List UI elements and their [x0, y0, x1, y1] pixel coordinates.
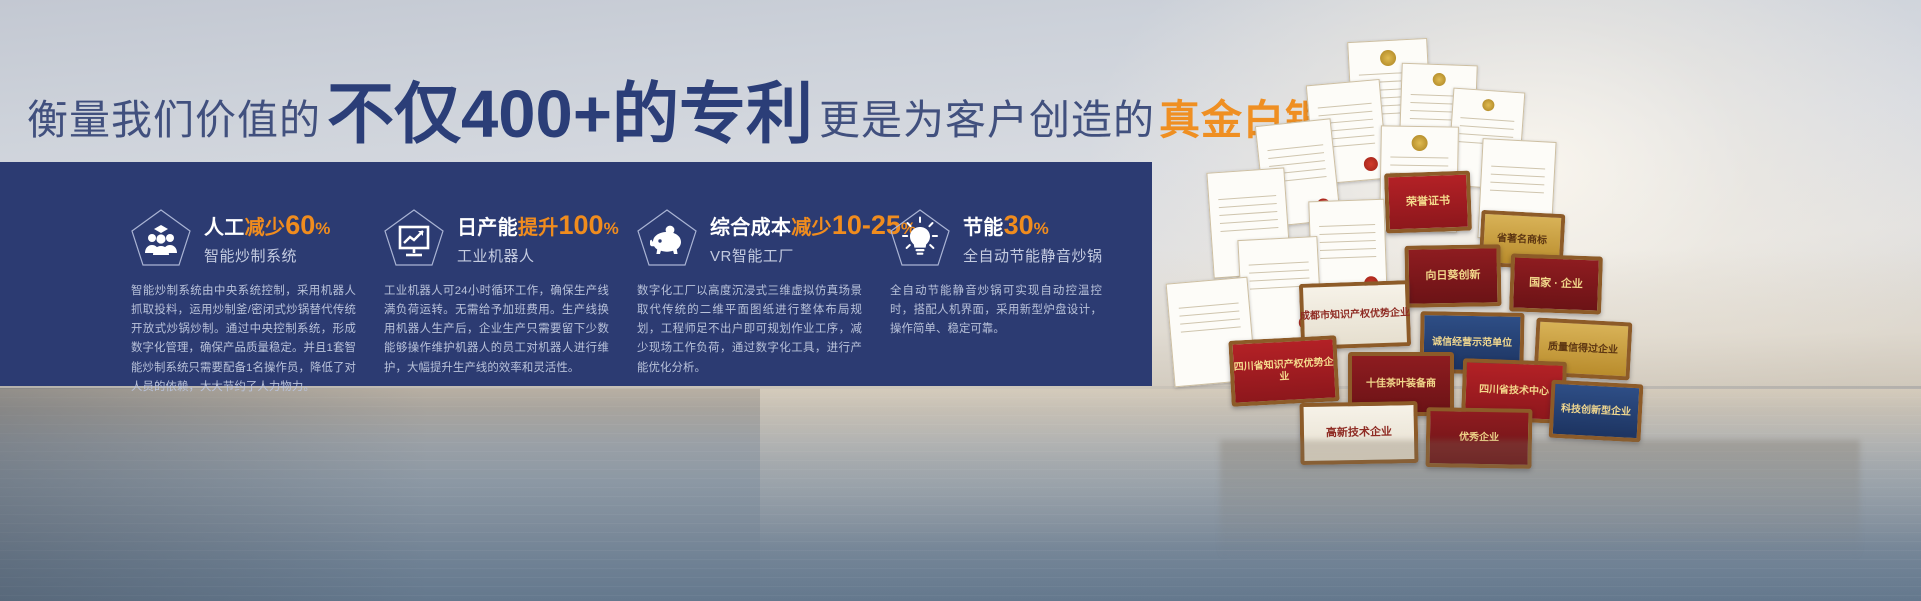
lightbulb-icon	[889, 208, 951, 268]
plaque-label: 向日葵创新	[1405, 269, 1501, 283]
plaque-label: 高新技术企业	[1300, 426, 1418, 441]
award-plaque: 四川省知识产权优势企业	[1228, 335, 1339, 407]
feature-title-unit: %	[604, 219, 619, 238]
feature-body-3: 数字化工厂以高度沉浸式三维虚拟仿真场景取代传统的二维平面图纸进行整体布局规划，工…	[637, 282, 862, 378]
feature-card-2[interactable]: 日产能提升100% 工业机器人 工业机器人可24小时循环工作，确保生产线满负荷运…	[383, 162, 641, 386]
chart-board-icon	[383, 208, 445, 268]
feature-subtitle-1: 智能炒制系统	[204, 245, 331, 266]
feature-title-number: 30	[1004, 210, 1034, 240]
people-group-icon	[130, 208, 192, 268]
feature-title-unit: %	[1034, 219, 1049, 238]
feature-title-accent: 提升	[518, 217, 559, 239]
certificate-reflection	[1220, 440, 1860, 560]
feature-title-accent: 减少	[245, 217, 286, 239]
feature-title-1: 人工减少60%	[204, 210, 331, 240]
headline-lead: 衡量我们价值的	[27, 100, 321, 141]
feature-title-prefix: 人工	[204, 217, 245, 239]
feature-card-1[interactable]: 人工减少60% 智能炒制系统 智能炒制系统由中央系统控制，采用机器人抓取投料，运…	[130, 162, 388, 386]
feature-subtitle-3: VR智能工厂	[710, 245, 916, 266]
feature-title-number: 60	[285, 210, 315, 240]
piggy-bank-icon	[636, 208, 698, 268]
award-plaque: 科技创新型企业	[1549, 380, 1644, 443]
feature-title-prefix: 综合成本	[710, 217, 791, 239]
award-plaque: 荣誉证书	[1384, 171, 1472, 234]
feature-body-1: 智能炒制系统由中央系统控制，采用机器人抓取投料，运用炒制釜/密闭式炒锅替代传统开…	[131, 282, 356, 397]
feature-subtitle-2: 工业机器人	[457, 245, 619, 266]
features-panel: 人工减少60% 智能炒制系统 智能炒制系统由中央系统控制，采用机器人抓取投料，运…	[0, 162, 1152, 386]
feature-card-3[interactable]: 综合成本减少10-25% VR智能工厂 数字化工厂以高度沉浸式三维虚拟仿真场景取…	[636, 162, 894, 386]
feature-title-3: 综合成本减少10-25%	[710, 210, 916, 240]
feature-title-prefix: 节能	[963, 217, 1004, 239]
feature-title-4: 节能30%	[963, 210, 1103, 240]
banner-stage: 衡量我们价值的 不仅400+的专利 更是为客户创造的 真金白银的效益	[0, 0, 1921, 601]
headline-emphasis: 不仅400+的专利	[327, 81, 813, 148]
feature-title-prefix: 日产能	[457, 217, 518, 239]
feature-body-2: 工业机器人可24小时循环工作，确保生产线满负荷运转。无需给予加班费用。生产线换用…	[384, 282, 609, 378]
feature-title-accent: 减少	[791, 217, 832, 239]
plaque-label: 十佳茶叶装备商	[1348, 378, 1454, 390]
award-plaque: 向日葵创新	[1404, 244, 1501, 308]
feature-card-4[interactable]: 节能30% 全自动节能静音炒锅 全自动节能静音炒锅可实现自动控温控时，搭配人机界…	[889, 162, 1129, 386]
feature-title-2: 日产能提升100%	[457, 210, 619, 240]
feature-subtitle-4: 全自动节能静音炒锅	[963, 245, 1103, 266]
certificate-wall: 荣誉证书 省著名商标 向日葵创新 国家 · 企业	[1150, 30, 1921, 495]
award-plaque: 国家 · 企业	[1509, 253, 1603, 314]
water-shadow-left	[0, 388, 430, 601]
feature-body-4: 全自动节能静音炒锅可实现自动控温控时，搭配人机界面，采用新型炉盘设计，操作简单、…	[890, 282, 1102, 339]
feature-title-unit: %	[315, 219, 330, 238]
plaque-label: 诚信经营示范单位	[1420, 336, 1524, 349]
feature-title-number: 100	[559, 210, 604, 240]
headline-middle: 更是为客户创造的	[819, 100, 1155, 141]
